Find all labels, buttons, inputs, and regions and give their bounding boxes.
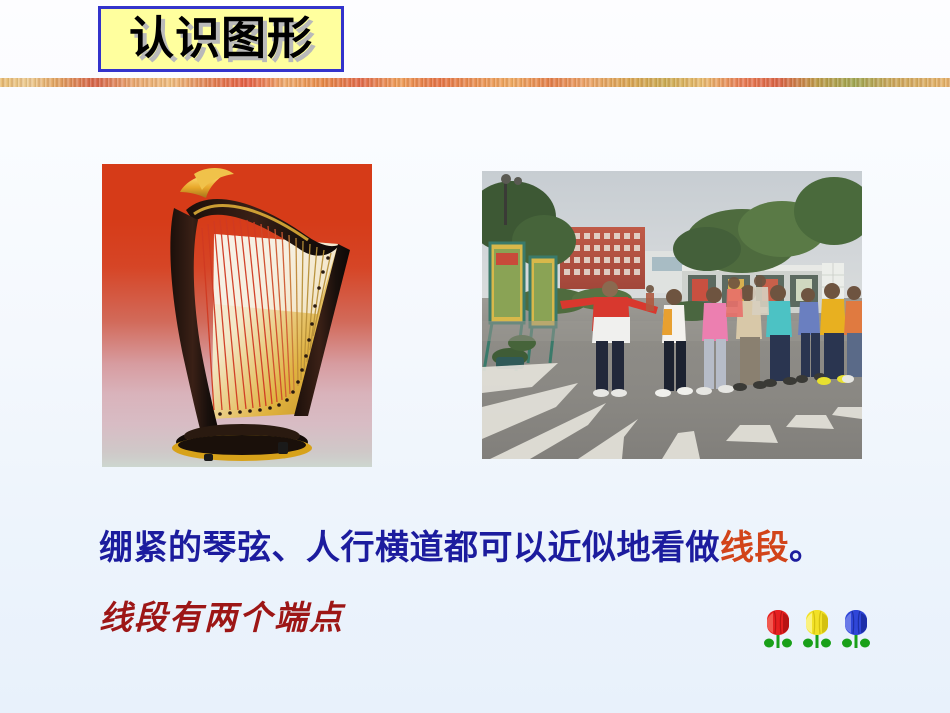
harp-image: www. ych.com xyxy=(102,164,372,467)
sentence-line-2: 线段有两个端点 xyxy=(99,598,344,638)
sentence-line-1: 绷紧的琴弦、人行横道都可以近似地看做线段。 xyxy=(99,528,824,569)
tulip-decoration-group xyxy=(763,606,873,652)
tulip-red-icon xyxy=(763,606,793,652)
title-box: 认识图形 xyxy=(98,6,344,72)
harp-illustration xyxy=(102,164,372,467)
slide-canvas: 认识图形 xyxy=(0,0,950,713)
tulip-yellow-icon xyxy=(802,606,832,652)
crosswalk-image xyxy=(482,171,862,459)
sentence-part-1: 绷紧的琴弦、人行横道都可以近似地看做 xyxy=(99,528,720,568)
decorative-band xyxy=(0,78,950,87)
tulip-blue-icon xyxy=(841,606,871,652)
highlight-term: 线段 xyxy=(720,528,789,568)
sentence-period: 。 xyxy=(789,528,824,568)
page-title: 认识图形 xyxy=(101,16,341,61)
crosswalk-illustration xyxy=(482,171,862,459)
student-7 xyxy=(842,286,862,383)
